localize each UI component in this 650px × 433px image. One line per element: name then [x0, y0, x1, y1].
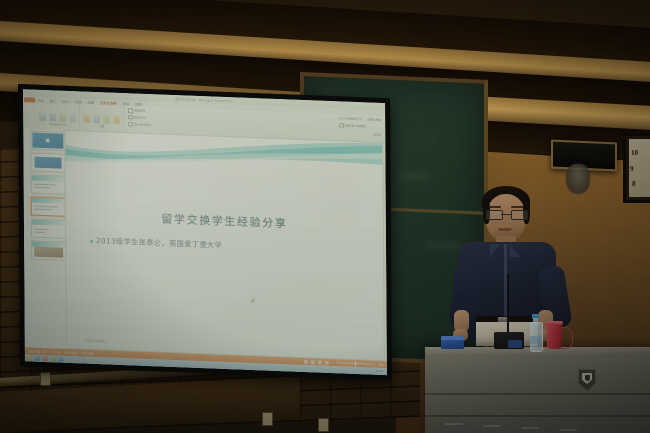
tab-animations[interactable]: 动画 — [87, 99, 94, 104]
ribbon-group-setup: 设置 — [80, 104, 124, 132]
thumbnail-line — [33, 187, 49, 189]
reading-view-icon[interactable] — [318, 360, 322, 364]
dark-device-accent — [508, 340, 522, 348]
monitor-label: 幻灯片放映显示于： — [339, 116, 365, 121]
clock-face: 10 9 8 — [629, 139, 650, 197]
blue-box-lid — [441, 336, 464, 340]
taskbar-explorer-icon[interactable] — [35, 356, 40, 361]
projection-screen: 留学交流分享 - Microsoft PowerPoint 文件 开始 插入 设… — [18, 84, 392, 380]
wall-socket — [318, 418, 329, 432]
checkbox-label: 使用计时 — [134, 116, 145, 120]
thumbnail-preview[interactable] — [30, 174, 66, 194]
thumbnail-wave — [31, 176, 65, 182]
checkbox-label: 使用演示者视图 — [345, 123, 365, 128]
eyebrow — [511, 206, 524, 208]
powerpoint-window: 留学交流分享 - Microsoft PowerPoint 文件 开始 插入 设… — [23, 89, 387, 375]
thumbnail-preview[interactable] — [30, 218, 66, 238]
checkbox-presenter-view[interactable]: 使用演示者视图 — [339, 123, 381, 129]
taskbar-app-icon[interactable] — [51, 356, 56, 361]
checkbox-box[interactable] — [128, 122, 133, 127]
thumbnail-photo — [34, 247, 64, 258]
projected-image: 留学交流分享 - Microsoft PowerPoint 文件 开始 插入 设… — [23, 89, 387, 375]
slideshow-view-icon[interactable] — [325, 360, 329, 364]
zoom-slider[interactable] — [336, 362, 370, 364]
university-shield-icon — [578, 369, 596, 391]
slide-canvas[interactable]: 留学交换学生经验分享 2013级学生张泰仑，英国爱丁堡大学 单击此处添加备注 — [64, 130, 385, 361]
thumbnail-glyph: ✖ — [45, 137, 50, 144]
checkbox-box[interactable] — [128, 115, 133, 120]
cup-handle — [562, 327, 573, 349]
thumbnail-number: 1 — [25, 130, 28, 134]
shield-mark — [585, 375, 590, 381]
ribbon-group-start-slideshow: 开始放映幻灯片 — [36, 103, 80, 131]
ribbon-button-row[interactable] — [39, 104, 76, 122]
zoom-out-button[interactable]: − — [332, 361, 334, 365]
chalk-smudge — [396, 172, 430, 181]
tab-view[interactable]: 视图 — [135, 101, 142, 106]
lecture-podium — [425, 347, 650, 433]
wall-clock: 10 9 8 — [623, 133, 650, 203]
thumbnail-preview[interactable]: ✖ — [30, 130, 66, 150]
thumbnail-preview[interactable] — [31, 240, 67, 260]
clock-numeral: 8 — [632, 180, 636, 188]
podium-seam — [425, 415, 650, 417]
taskbar-start-icon[interactable] — [27, 355, 32, 360]
thumbnail-wave — [31, 198, 65, 204]
mouse-cursor-icon — [250, 297, 257, 304]
thumbnail-wave — [31, 220, 65, 226]
rehearse-timings-icon[interactable] — [103, 115, 110, 123]
ribbon-button-row[interactable] — [83, 106, 120, 124]
custom-slideshow-icon[interactable] — [69, 114, 76, 122]
thumbnail-item[interactable]: 6 — [26, 240, 66, 261]
thumbnail-number: 6 — [26, 240, 29, 244]
thumbnail-item[interactable]: 2 — [25, 152, 65, 173]
slide-title: 留学交换学生经验分享 — [66, 207, 383, 235]
lens-right — [511, 210, 528, 220]
red-travel-cup — [547, 323, 562, 349]
bullet-dot-icon — [90, 239, 93, 242]
collar-left — [490, 244, 500, 257]
clock-numeral: 10 — [631, 149, 638, 157]
checkbox-box[interactable] — [128, 108, 133, 113]
zoom-slider-knob[interactable] — [354, 361, 356, 366]
water-bottle — [530, 314, 541, 350]
from-beginning-icon[interactable] — [39, 113, 46, 121]
slide-thumbnail-panel[interactable]: 1 ✖ 2 3 — [23, 128, 70, 349]
thumbnail-item-selected[interactable]: 4 — [26, 196, 66, 217]
tab-design[interactable]: 设计 — [62, 98, 69, 103]
taskbar-powerpoint-icon[interactable] — [43, 356, 48, 361]
collar-right — [510, 244, 520, 257]
checkbox-play-narrations[interactable]: 播放旁白 — [128, 108, 151, 113]
thumbnail-line — [33, 209, 51, 211]
zoom-in-button[interactable]: + — [373, 362, 375, 366]
lens-left — [486, 210, 503, 220]
cup-lid — [546, 321, 563, 325]
slide-bullet-item: 2013级学生张泰仑，英国爱丁堡大学 — [90, 236, 373, 257]
thumbnail-line — [34, 229, 48, 231]
thumbnail-line — [34, 232, 45, 233]
monitor-target-field[interactable]: 幻灯片放映显示于： 主要监视器 — [339, 116, 381, 122]
thumbnail-number: 4 — [26, 196, 29, 200]
ribbon-group-label: 开始放映幻灯片 — [49, 122, 67, 127]
tab-insert[interactable]: 插入 — [50, 98, 57, 103]
wall-socket — [40, 372, 51, 386]
slide-bullet-text: 2013级学生张泰仑，英国爱丁堡大学 — [96, 236, 222, 251]
checkbox-show-media-controls[interactable]: 显示媒体控件 — [128, 122, 151, 127]
microphone-stand — [507, 274, 509, 340]
screenshot-root: 10 9 8 留学交流分享 - Microsoft PowerPoint 文件 … — [0, 0, 650, 433]
thumbnail-art — [34, 157, 62, 169]
ribbon-checkbox-group[interactable]: 播放旁白 使用计时 显示媒体控件 — [124, 106, 155, 133]
podium-vent — [483, 425, 501, 427]
thumbnail-number: 2 — [25, 152, 28, 156]
podium-vent — [559, 429, 577, 431]
monitor-value[interactable]: 主要监视器 — [367, 117, 381, 122]
tab-review[interactable]: 审阅 — [123, 101, 130, 106]
eyebrow — [488, 206, 501, 208]
thumbnail-number: 5 — [26, 218, 29, 222]
bottle-label — [530, 336, 541, 344]
ribbon-group-label: 设置 — [99, 124, 104, 128]
taskbar-clock[interactable]: 14:36 — [376, 370, 385, 373]
broadcast-slideshow-icon[interactable] — [59, 114, 66, 122]
podium-seam — [425, 393, 650, 395]
record-slideshow-icon[interactable] — [113, 116, 120, 124]
thumbnail-preview[interactable] — [30, 196, 66, 216]
thumbnail-item[interactable]: 1 ✖ — [25, 130, 65, 151]
zoom-level[interactable]: 70% — [378, 362, 384, 366]
notes-placeholder[interactable]: 单击此处添加备注 — [85, 339, 107, 344]
clock-numeral: 9 — [630, 165, 634, 173]
wall-socket — [262, 412, 273, 426]
thumbnail-item[interactable]: 5 — [26, 218, 66, 239]
checkbox-use-timings[interactable]: 使用计时 — [128, 115, 151, 120]
theme-name: ‘流线’主题 — [64, 350, 77, 354]
thumbnail-preview[interactable] — [30, 152, 66, 172]
podium-vent — [521, 427, 539, 429]
checkbox-label: 播放旁白 — [134, 109, 145, 113]
checkbox-label: 显示媒体控件 — [134, 122, 151, 127]
thumbnail-line — [33, 206, 57, 208]
thumbnail-item[interactable]: 3 — [26, 174, 66, 195]
tab-home[interactable]: 开始 — [37, 97, 44, 102]
checkbox-box[interactable] — [339, 123, 344, 128]
mouth — [498, 228, 512, 231]
setup-slideshow-icon[interactable] — [83, 115, 90, 123]
language-indicator[interactable]: 中文(中国) — [81, 351, 95, 356]
from-current-slide-icon[interactable] — [49, 113, 56, 121]
glasses-bridge — [501, 214, 511, 215]
ribbon-group-label: 监视器 — [373, 132, 381, 136]
slide-sorter-icon[interactable] — [311, 360, 315, 364]
hide-slide-icon[interactable] — [93, 115, 100, 123]
thumbnail-number: 3 — [26, 174, 29, 178]
taskbar-app-icon[interactable] — [59, 357, 64, 362]
tab-transitions[interactable]: 切换 — [75, 99, 82, 104]
thumbnail-line — [33, 184, 55, 186]
blue-box-object — [441, 336, 464, 349]
ribbon-group-monitors[interactable]: 幻灯片放映显示于： 主要监视器 使用演示者视图 监视器 — [335, 114, 385, 142]
slide-counter: 幻灯片 第 4 张，共 12 张 — [28, 349, 60, 354]
podium-vent — [445, 423, 463, 425]
normal-view-icon[interactable] — [304, 359, 308, 363]
glasses-icon — [486, 210, 526, 218]
